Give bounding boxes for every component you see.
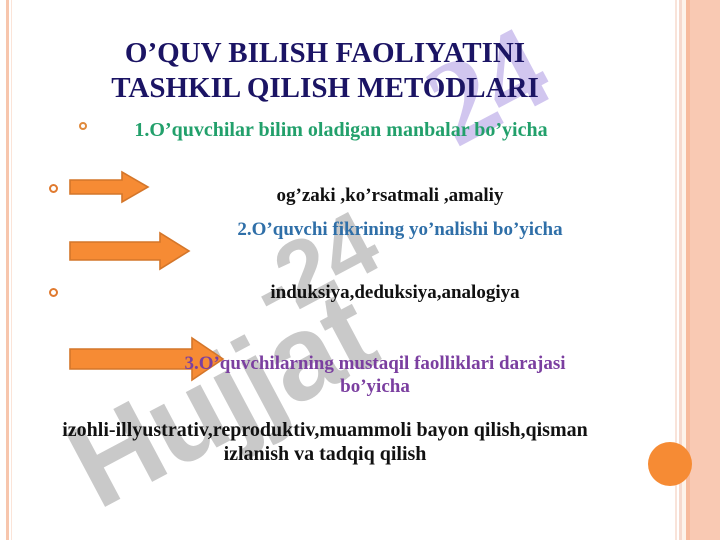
page-title-line-2: TASHKIL QILISH METODLARI xyxy=(60,71,590,106)
slide-content: O’QUV BILISH FAOLIYATINI TASHKIL QILISH … xyxy=(0,0,720,540)
method-source-heading: 1.O’quvchilar bilim oladigan manbalar bo… xyxy=(96,118,586,142)
method-source-items: og’zaki ,ko’rsatmali ,amaliy xyxy=(190,184,590,207)
method-logic-items: induksiya,deduksiya,analogiya xyxy=(190,281,600,304)
right-arrow-icon-1 xyxy=(68,170,150,204)
bullet-marker-1 xyxy=(79,122,87,130)
bullet-marker-2 xyxy=(49,184,58,193)
decorative-circle xyxy=(648,442,692,486)
bullet-marker-3 xyxy=(49,288,58,297)
right-arrow-icon-2 xyxy=(68,231,192,271)
method-activity-items: izohli-illyustrativ,reproduktiv,muammoli… xyxy=(50,418,600,467)
method-logic-heading: 2.O’quvchi fikrining yo’nalishi bo’yicha xyxy=(200,218,600,241)
page-title-line-1: O’QUV BILISH FAOLIYATINI xyxy=(60,36,590,71)
slide-canvas: Hujjat -24 24 O’QUV BILISH FAOLIYATINI T… xyxy=(0,0,720,540)
page-title: O’QUV BILISH FAOLIYATINI TASHKIL QILISH … xyxy=(60,36,590,107)
method-activity-heading: 3.O’quvchilarning mustaqil faolliklari d… xyxy=(150,352,600,398)
